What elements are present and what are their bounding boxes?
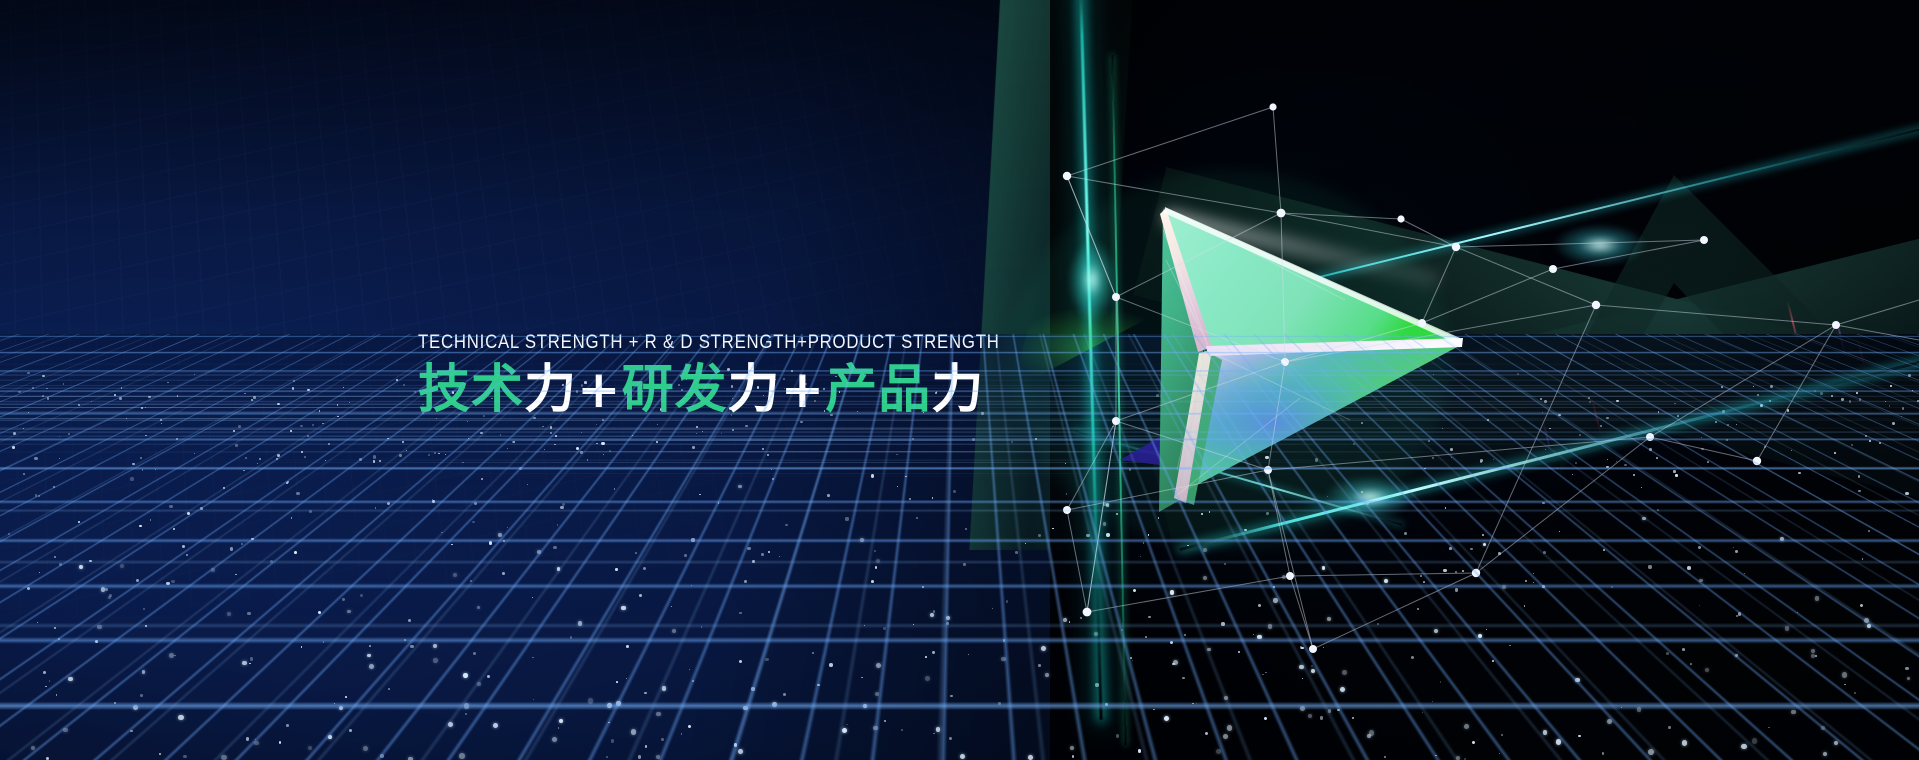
headline-segment-4: 力 (728, 360, 781, 420)
headline-segment-2: + (577, 360, 622, 420)
headline-block: TECHNICAL STRENGTH + R & D STRENGTH+PROD… (418, 333, 978, 418)
headline-segment-3: 研发 (622, 360, 728, 420)
page-title: 技术力+研发力+产品力 (418, 363, 978, 418)
headline-segment-0: 技术 (418, 360, 524, 420)
hero-banner: TECHNICAL STRENGTH + R & D STRENGTH+PROD… (0, 0, 1919, 760)
headline-segment-1: 力 (524, 360, 577, 420)
headline-segment-7: 力 (931, 360, 984, 420)
headline-segment-6: 产品 (825, 360, 931, 420)
eyebrow-text: TECHNICAL STRENGTH + R & D STRENGTH+PROD… (418, 333, 900, 353)
headline-segment-5: + (781, 360, 826, 420)
